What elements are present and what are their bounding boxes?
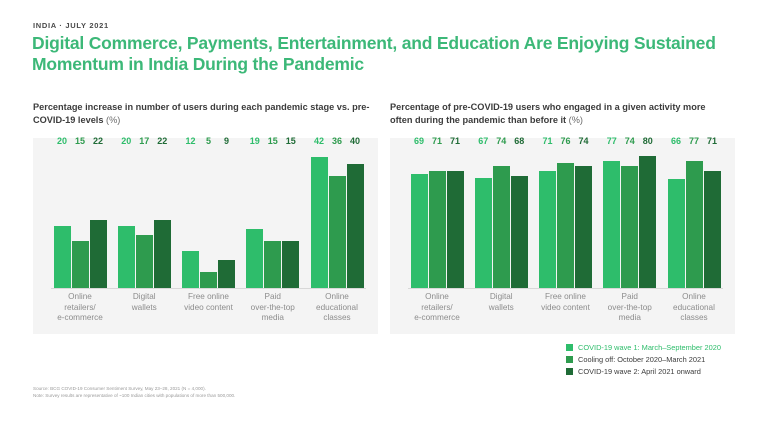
bar-group: 423640 [308, 148, 366, 288]
bar-group: 777480 [601, 148, 659, 288]
bar-column[interactable]: 22 [154, 148, 171, 288]
category-label: Onlineeducationalclasses [665, 292, 723, 324]
legend-item[interactable]: COVID-19 wave 2: April 2021 onward [566, 367, 721, 376]
bar-cluster: 697171 [408, 148, 466, 288]
legend-item[interactable]: COVID-19 wave 1: March–September 2020 [566, 343, 721, 352]
bar[interactable]: 12 [182, 251, 199, 288]
bar-value-label: 19 [250, 136, 260, 146]
bar-value-label: 22 [93, 136, 103, 146]
bar[interactable]: 36 [329, 176, 346, 288]
bar[interactable]: 69 [411, 174, 428, 288]
bar[interactable]: 19 [246, 229, 263, 288]
bar-cluster: 677468 [472, 148, 530, 288]
bar-value-label: 40 [350, 136, 360, 146]
bar-value-label: 15 [286, 136, 296, 146]
left-chart-subtitle-unit: (%) [106, 115, 120, 125]
category-label: Free onlinevideo content [180, 292, 238, 324]
category-label: Free onlinevideo content [537, 292, 595, 324]
right-chart-subtitle-unit: (%) [569, 115, 583, 125]
bar-column[interactable]: 74 [575, 148, 592, 288]
bar-column[interactable]: 20 [118, 148, 135, 288]
bar[interactable]: 66 [668, 179, 685, 288]
bar-cluster: 201722 [115, 148, 173, 288]
bar-column[interactable]: 80 [639, 148, 656, 288]
bar-value-label: 15 [268, 136, 278, 146]
bar[interactable]: 22 [90, 220, 107, 288]
left-bar-chart: 2015222017221259191515423640 Onlineretai… [33, 138, 378, 334]
bar-value-label: 74 [496, 136, 506, 146]
bar-group: 1259 [180, 148, 238, 288]
bar-value-label: 66 [671, 136, 681, 146]
bar-value-label: 76 [560, 136, 570, 146]
category-label: Paidover-the-topmedia [244, 292, 302, 324]
bar[interactable]: 71 [429, 171, 446, 288]
bar-column[interactable]: 19 [246, 148, 263, 288]
bar[interactable]: 76 [557, 163, 574, 288]
bar[interactable]: 74 [493, 166, 510, 288]
bar-column[interactable]: 42 [311, 148, 328, 288]
left-chart-subtitle: Percentage increase in number of users d… [33, 101, 373, 127]
bar-column[interactable]: 71 [704, 148, 721, 288]
bar-group: 717674 [537, 148, 595, 288]
bar-cluster: 717674 [537, 148, 595, 288]
bar-value-label: 15 [75, 136, 85, 146]
bar[interactable]: 71 [704, 171, 721, 288]
bar[interactable]: 80 [639, 156, 656, 288]
footnotes: Source: BCG COVID-19 Consumer Sentiment … [33, 385, 235, 399]
category-label: Onlineretailers/e-commerce [408, 292, 466, 324]
bar-group: 677468 [472, 148, 530, 288]
bar-value-label: 42 [314, 136, 324, 146]
category-label: Paidover-the-topmedia [601, 292, 659, 324]
bar-value-label: 20 [57, 136, 67, 146]
bar[interactable]: 17 [136, 235, 153, 288]
bar-cluster: 191515 [244, 148, 302, 288]
bar[interactable]: 15 [282, 241, 299, 288]
bar[interactable]: 15 [264, 241, 281, 288]
bar[interactable]: 40 [347, 164, 364, 288]
bar-value-label: 71 [542, 136, 552, 146]
bar-value-label: 36 [332, 136, 342, 146]
bar-value-label: 9 [224, 136, 229, 146]
legend-swatch-icon [566, 356, 573, 363]
category-label: Digitalwallets [115, 292, 173, 324]
bar[interactable]: 67 [475, 178, 492, 288]
bar-value-label: 71 [450, 136, 460, 146]
bar-cluster: 201522 [51, 148, 109, 288]
right-bar-chart: 697171677468717674777480667771 Onlineret… [390, 138, 735, 334]
bar[interactable]: 22 [154, 220, 171, 288]
bar[interactable]: 77 [603, 161, 620, 288]
bar-cluster: 667771 [665, 148, 723, 288]
bar-value-label: 71 [707, 136, 717, 146]
bar-group: 697171 [408, 148, 466, 288]
left-chart-plot-area: 2015222017221259191515423640 [51, 148, 366, 288]
bar-value-label: 77 [607, 136, 617, 146]
right-chart-plot-area: 697171677468717674777480667771 [408, 148, 723, 288]
right-chart-category-labels: Onlineretailers/e-commerceDigitalwallets… [408, 292, 723, 324]
bar-group: 667771 [665, 148, 723, 288]
category-label: Onlineretailers/e-commerce [51, 292, 109, 324]
bar-column[interactable]: 20 [54, 148, 71, 288]
bar-value-label: 68 [514, 136, 524, 146]
bar-value-label: 20 [121, 136, 131, 146]
right-chart-subtitle: Percentage of pre-COVID-19 users who eng… [390, 101, 730, 127]
bar-column[interactable]: 76 [557, 148, 574, 288]
legend-swatch-icon [566, 368, 573, 375]
bar-cluster: 777480 [601, 148, 659, 288]
chart-legend: COVID-19 wave 1: March–September 2020Coo… [566, 343, 721, 376]
slide-canvas: INDIA · JULY 2021 Digital Commerce, Paym… [0, 0, 768, 432]
bar-cluster: 423640 [308, 148, 366, 288]
bar[interactable]: 71 [447, 171, 464, 288]
right-chart-axis-line [408, 288, 723, 289]
legend-swatch-icon [566, 344, 573, 351]
legend-label: COVID-19 wave 1: March–September 2020 [578, 343, 721, 352]
bar[interactable]: 20 [118, 226, 135, 288]
bar-group: 191515 [244, 148, 302, 288]
bar[interactable]: 20 [54, 226, 71, 288]
bar-column[interactable]: 67 [475, 148, 492, 288]
page-title: Digital Commerce, Payments, Entertainmen… [32, 33, 732, 75]
category-label: Digitalwallets [472, 292, 530, 324]
bar-value-label: 5 [206, 136, 211, 146]
bar-value-label: 71 [432, 136, 442, 146]
legend-label: COVID-19 wave 2: April 2021 onward [578, 367, 701, 376]
bar-column[interactable]: 40 [347, 148, 364, 288]
bar-column[interactable]: 12 [182, 148, 199, 288]
bar-column[interactable]: 15 [264, 148, 281, 288]
bar-column[interactable]: 9 [218, 148, 235, 288]
bar-value-label: 17 [139, 136, 149, 146]
bar[interactable]: 5 [200, 272, 217, 288]
bar-value-label: 80 [643, 136, 653, 146]
bar[interactable]: 74 [575, 166, 592, 288]
bar-column[interactable]: 17 [136, 148, 153, 288]
bar-column[interactable]: 71 [429, 148, 446, 288]
left-chart-axis-line [51, 288, 366, 289]
bar[interactable]: 74 [621, 166, 638, 288]
bar-value-label: 77 [689, 136, 699, 146]
left-chart-category-labels: Onlineretailers/e-commerceDigitalwallets… [51, 292, 366, 324]
bar-column[interactable]: 15 [282, 148, 299, 288]
kicker-label: INDIA · JULY 2021 [33, 21, 109, 30]
right-chart-subtitle-text: Percentage of pre-COVID-19 users who eng… [390, 102, 706, 125]
category-label: Onlineeducationalclasses [308, 292, 366, 324]
bar-value-label: 69 [414, 136, 424, 146]
bar-group: 201722 [115, 148, 173, 288]
footnote-source: Source: BCG COVID-19 Consumer Sentiment … [33, 385, 235, 392]
legend-item[interactable]: Cooling off: October 2020–March 2021 [566, 355, 721, 364]
bar[interactable]: 15 [72, 241, 89, 288]
bar-column[interactable]: 71 [447, 148, 464, 288]
bar-value-label: 74 [578, 136, 588, 146]
footnote-note: Note: Survey results are representative … [33, 392, 235, 399]
bar-column[interactable]: 69 [411, 148, 428, 288]
bar-column[interactable]: 36 [329, 148, 346, 288]
bar-column[interactable]: 74 [493, 148, 510, 288]
bar-value-label: 12 [185, 136, 195, 146]
left-chart-subtitle-text: Percentage increase in number of users d… [33, 102, 369, 125]
bar[interactable]: 9 [218, 260, 235, 288]
bar[interactable]: 42 [311, 157, 328, 288]
bar-cluster: 1259 [180, 148, 238, 288]
bar-value-label: 74 [625, 136, 635, 146]
bar[interactable]: 68 [511, 176, 528, 288]
bar-column[interactable]: 5 [200, 148, 217, 288]
bar-value-label: 22 [157, 136, 167, 146]
bar-column[interactable]: 22 [90, 148, 107, 288]
bar-column[interactable]: 77 [603, 148, 620, 288]
bar[interactable]: 71 [539, 171, 556, 288]
bar-column[interactable]: 66 [668, 148, 685, 288]
bar-column[interactable]: 77 [686, 148, 703, 288]
bar-column[interactable]: 15 [72, 148, 89, 288]
bar[interactable]: 77 [686, 161, 703, 288]
bar-value-label: 67 [478, 136, 488, 146]
legend-label: Cooling off: October 2020–March 2021 [578, 355, 705, 364]
bar-column[interactable]: 74 [621, 148, 638, 288]
bar-column[interactable]: 71 [539, 148, 556, 288]
bar-column[interactable]: 68 [511, 148, 528, 288]
bar-group: 201522 [51, 148, 109, 288]
